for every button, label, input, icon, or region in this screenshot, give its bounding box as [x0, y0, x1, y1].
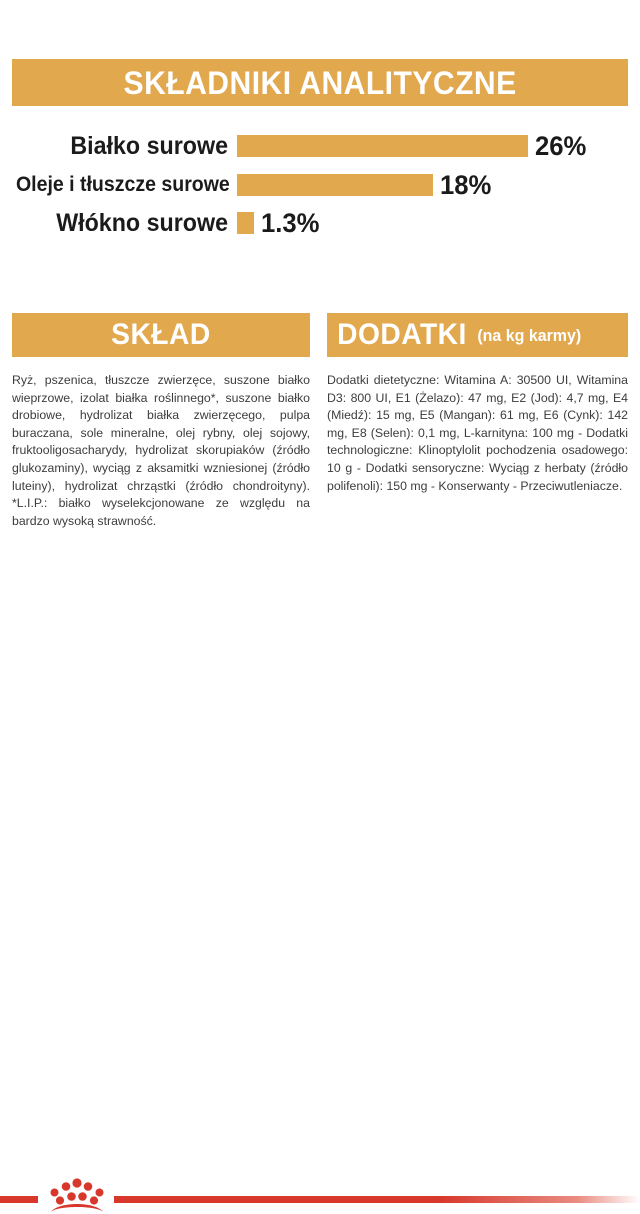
chart-bar: [237, 212, 254, 234]
composition-section-title: SKŁAD: [111, 320, 210, 350]
chart-row: Oleje i tłuszcze surowe 18%: [0, 168, 640, 202]
additives-section-title: DODATKI: [337, 320, 467, 350]
analytical-section-title: SKŁADNIKI ANALITYCZNE: [123, 67, 516, 99]
composition-ingredients-text: Ryż, pszenica, tłuszcze zwierzęce, suszo…: [12, 372, 310, 530]
chart-row: Białko surowe 26%: [0, 129, 640, 163]
chart-bar-group: 26%: [237, 131, 589, 162]
chart-row: Włókno surowe 1.3%: [0, 206, 640, 240]
additives-section-banner: DODATKI (na kg karmy): [327, 313, 628, 357]
analytical-section-banner: SKŁADNIKI ANALITYCZNE: [12, 59, 628, 106]
chart-bar-value: 26%: [535, 131, 586, 162]
chart-bar-label: Włókno surowe: [16, 209, 228, 238]
nutrition-panel: SKŁADNIKI ANALITYCZNE Białko surowe 26% …: [0, 0, 640, 640]
chart-bar-label: Oleje i tłuszcze surowe: [16, 173, 228, 197]
composition-section-banner: SKŁAD: [12, 313, 310, 357]
footer-rule-left: [0, 1196, 38, 1203]
footer-brand-bar: [0, 588, 640, 622]
chart-bar-value: 18%: [440, 170, 491, 201]
chart-bar-group: 1.3%: [237, 208, 323, 239]
additives-section-subtitle: (na kg karmy): [477, 326, 581, 346]
royal-canin-crown-icon: [44, 1174, 110, 1214]
chart-bar-value: 1.3%: [261, 208, 319, 239]
chart-bar-group: 18%: [237, 170, 494, 201]
additives-details-text: Dodatki dietetyczne: Witamina A: 30500 U…: [327, 372, 628, 495]
chart-bar: [237, 174, 433, 196]
chart-bar: [237, 135, 528, 157]
footer-rule-right: [114, 1196, 640, 1203]
chart-bar-label: Białko surowe: [16, 132, 228, 161]
